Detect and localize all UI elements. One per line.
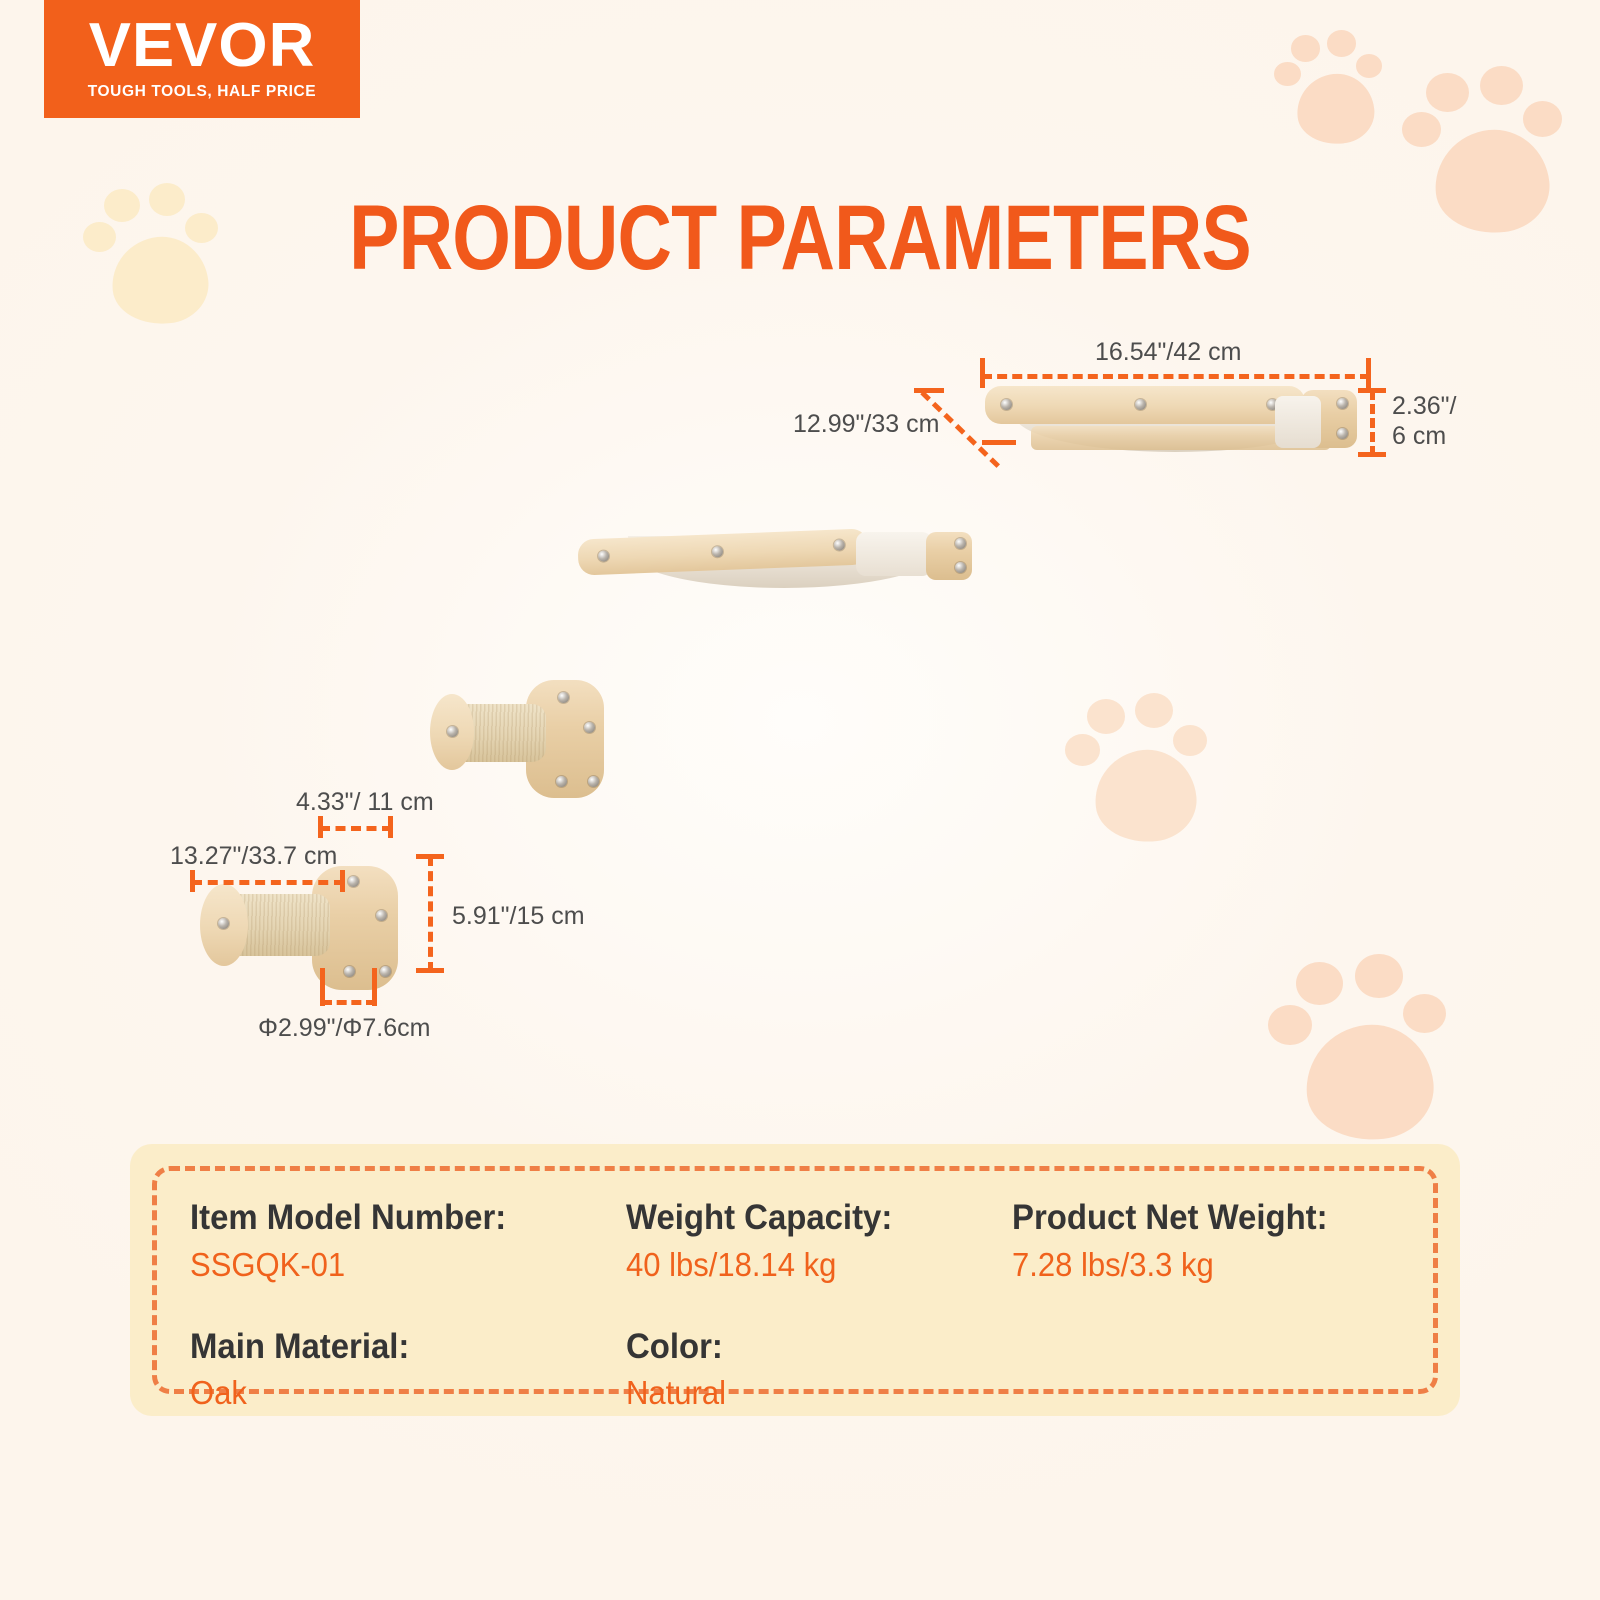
specifications-grid: Item Model Number: SSGQK-01 Weight Capac… xyxy=(190,1196,1420,1388)
paw-pad xyxy=(1294,70,1378,147)
dimension-line-hammock-height xyxy=(1370,390,1375,456)
dimension-cap xyxy=(914,388,944,393)
paw-pad xyxy=(1091,745,1201,847)
spec-value: Oak xyxy=(190,1372,600,1415)
paw-print-icon xyxy=(1264,950,1462,1148)
spec-label: Product Net Weight: xyxy=(1012,1196,1388,1240)
screw-icon xyxy=(1337,398,1348,409)
screw-icon xyxy=(556,776,567,787)
screw-icon xyxy=(1337,428,1348,439)
paw-toe xyxy=(1065,734,1100,766)
dimension-line-step-total-length xyxy=(192,880,344,885)
brand-tagline: TOUGH TOOLS, HALF PRICE xyxy=(88,83,317,101)
hammock-fabric-wrap xyxy=(1275,396,1321,448)
spec-value: Natural xyxy=(626,1372,989,1415)
dimension-cap xyxy=(416,968,444,973)
dimension-label-step-plate-height: 5.91"/15 cm xyxy=(452,902,585,931)
brand-name: VEVOR xyxy=(89,17,316,76)
brand-logo: VEVOR TOUGH TOOLS, HALF PRICE xyxy=(44,0,360,118)
screw-icon xyxy=(955,538,966,549)
spec-item-weight-capacity: Weight Capacity: 40 lbs/18.14 kg xyxy=(626,1196,1012,1287)
spec-label: Weight Capacity: xyxy=(626,1196,989,1240)
screw-icon xyxy=(598,550,609,561)
specifications-card: Item Model Number: SSGQK-01 Weight Capac… xyxy=(130,1144,1460,1416)
spec-label: Item Model Number: xyxy=(190,1196,600,1240)
spec-value: SSGQK-01 xyxy=(190,1244,600,1287)
dimension-label-step-total-length: 13.27"/33.7 cm xyxy=(170,842,337,871)
paw-pad xyxy=(1300,1019,1438,1146)
dimension-cap xyxy=(340,870,345,892)
dimension-label-step-diameter: Φ2.99"/Φ7.6cm xyxy=(258,1014,430,1043)
dimension-label-step-plate-width: 4.33"/ 11 cm xyxy=(296,788,434,817)
spec-value: 40 lbs/18.14 kg xyxy=(626,1244,989,1287)
screw-icon xyxy=(712,546,723,557)
paw-toe xyxy=(1327,30,1356,56)
paw-toe xyxy=(1355,954,1403,998)
spec-label: Color: xyxy=(626,1325,989,1369)
hammock-front-rail xyxy=(985,386,1305,424)
dimension-label-hammock-height-line2: 6 cm xyxy=(1392,422,1446,451)
paw-toe xyxy=(1356,54,1382,78)
product-image-hammock-angled xyxy=(578,518,974,592)
hammock-side-plate xyxy=(926,532,972,580)
screw-icon xyxy=(344,966,355,977)
paw-toe xyxy=(1523,101,1562,137)
paw-toe xyxy=(1403,994,1447,1034)
paw-toe xyxy=(1291,35,1320,61)
screw-icon xyxy=(380,966,391,977)
screw-icon xyxy=(558,692,569,703)
dimension-line-step-diameter xyxy=(322,1000,376,1005)
screw-icon xyxy=(588,776,599,787)
screw-icon xyxy=(1135,399,1146,410)
screw-icon xyxy=(348,876,359,887)
paw-print-icon xyxy=(1272,28,1392,148)
spec-row: Main Material: Oak Color: Natural xyxy=(190,1325,1420,1416)
dimension-cap xyxy=(190,870,195,892)
spec-row: Item Model Number: SSGQK-01 Weight Capac… xyxy=(190,1196,1420,1287)
dimension-line-step-plate-width xyxy=(320,826,392,831)
paw-toe xyxy=(1274,62,1300,86)
product-image-hammock-top xyxy=(975,378,1375,460)
step-end-cap xyxy=(200,884,248,966)
paw-toe xyxy=(83,222,116,252)
paw-toe xyxy=(1268,1005,1312,1045)
spec-item-main-material: Main Material: Oak xyxy=(190,1325,626,1416)
product-image-step-upper xyxy=(424,676,604,802)
dimension-label-hammock-width: 16.54"/42 cm xyxy=(1095,338,1241,367)
spec-item-color: Color: Natural xyxy=(626,1325,1012,1416)
dimension-cap xyxy=(388,816,393,838)
screw-icon xyxy=(1001,399,1012,410)
paw-toe xyxy=(1480,66,1523,105)
screw-icon xyxy=(584,722,595,733)
paw-toe xyxy=(1402,112,1441,148)
screw-icon xyxy=(218,918,229,929)
dimension-cap xyxy=(1358,452,1386,457)
dimension-cap xyxy=(372,968,377,1006)
paw-toe xyxy=(104,189,140,222)
screw-icon xyxy=(955,562,966,573)
spec-item-model-number: Item Model Number: SSGQK-01 xyxy=(190,1196,626,1287)
dimension-cap xyxy=(318,816,323,838)
dimension-cap xyxy=(982,440,1016,445)
paw-toe xyxy=(1087,699,1125,734)
paw-toe xyxy=(1426,73,1469,112)
dimension-cap xyxy=(1358,388,1386,393)
spec-item-net-weight: Product Net Weight: 7.28 lbs/3.3 kg xyxy=(1012,1196,1412,1287)
dimension-cap xyxy=(980,358,985,388)
paw-toe xyxy=(1135,693,1173,728)
dimension-cap xyxy=(416,854,444,859)
step-end-cap xyxy=(430,694,474,770)
dimension-line-hammock-width xyxy=(982,374,1370,379)
screw-icon xyxy=(447,726,458,737)
dimension-cap xyxy=(1366,358,1371,388)
paw-toe xyxy=(1296,962,1344,1006)
spec-value: 7.28 lbs/3.3 kg xyxy=(1012,1244,1388,1287)
paw-toe xyxy=(1173,725,1208,757)
page-title: PRODUCT PARAMETERS xyxy=(144,186,1456,291)
spec-label: Main Material: xyxy=(190,1325,600,1369)
screw-icon xyxy=(834,539,845,550)
paw-print-icon xyxy=(1062,690,1220,848)
hammock-fabric-wrap xyxy=(856,532,932,576)
dimension-line-step-plate-height xyxy=(428,856,433,972)
screw-icon xyxy=(376,910,387,921)
dimension-cap xyxy=(320,968,325,1006)
dimension-label-hammock-height-line1: 2.36"/ xyxy=(1392,392,1456,421)
dimension-label-hammock-depth: 12.99"/33 cm xyxy=(793,410,939,439)
